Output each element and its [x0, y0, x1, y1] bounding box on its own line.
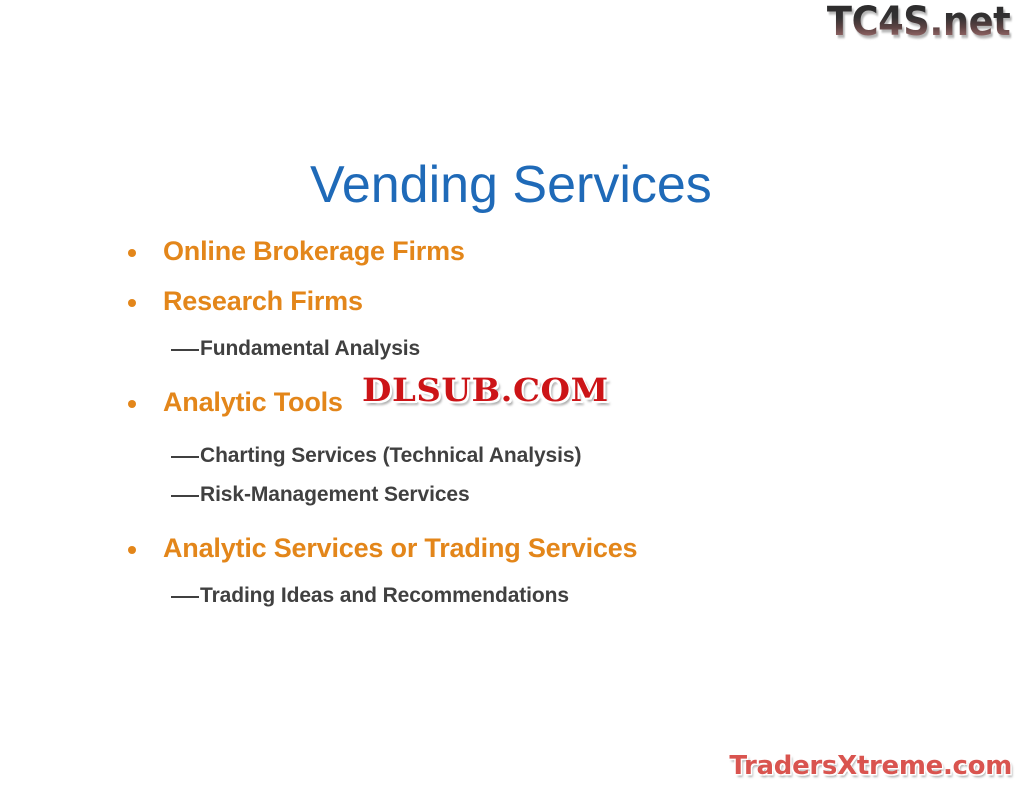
bullet-label: Analytic Services or Trading Services — [163, 533, 637, 563]
bullet-label: Online Brokerage Firms — [163, 236, 465, 266]
bullet-label: Research Firms — [163, 286, 363, 316]
bullet-label: Analytic Tools — [163, 387, 343, 417]
bullet-research-firms: Research Firms — [0, 286, 1024, 318]
tradersxtreme-watermark: TradersXtreme.com — [729, 753, 1012, 779]
tc4s-logo: TC4S.net — [827, 2, 1010, 42]
dlsub-watermark: DLSUB.COM — [362, 374, 609, 406]
slide-bullet-list: Online Brokerage Firms Research Firms Fu… — [0, 236, 1024, 622]
bullet-dot-icon — [128, 249, 136, 257]
subbullet-risk-management-services: Risk-Management Services — [0, 482, 1024, 507]
bullet-dash-icon — [171, 596, 199, 598]
bullet-dash-icon — [171, 456, 199, 458]
bullet-dot-icon — [128, 400, 136, 408]
bullet-dot-icon — [128, 299, 136, 307]
slide-title: Vending Services — [310, 157, 712, 214]
bullet-analytic-services-or-trading-services: Analytic Services or Trading Services — [0, 533, 1024, 565]
subbullet-label: Fundamental Analysis — [200, 337, 420, 360]
bullet-dot-icon — [128, 546, 136, 554]
subbullet-fundamental-analysis: Fundamental Analysis — [0, 336, 1024, 361]
bullet-online-brokerage-firms: Online Brokerage Firms — [0, 236, 1024, 268]
subbullet-label: Trading Ideas and Recommendations — [200, 584, 569, 607]
presentation-slide: TC4S.net Vending Services Online Brokera… — [0, 0, 1024, 791]
bullet-dash-icon — [171, 349, 199, 351]
subbullet-charting-services: Charting Services (Technical Analysis) — [0, 443, 1024, 468]
subbullet-label: Charting Services (Technical Analysis) — [200, 444, 581, 467]
subbullet-trading-ideas-and-recommendations: Trading Ideas and Recommendations — [0, 583, 1024, 608]
bullet-dash-icon — [171, 495, 199, 497]
subbullet-label: Risk-Management Services — [200, 483, 470, 506]
